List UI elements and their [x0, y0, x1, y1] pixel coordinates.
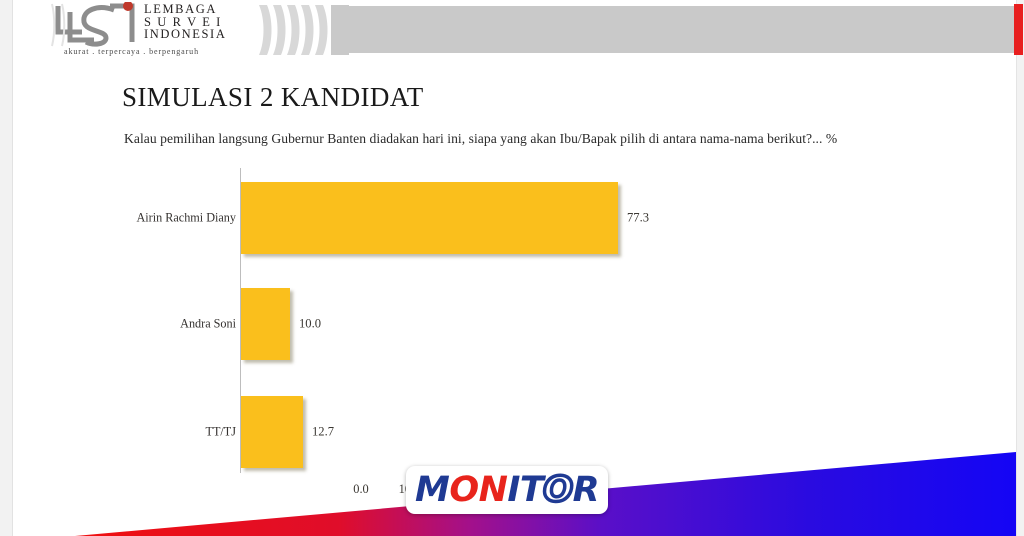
header-red-accent	[1014, 4, 1023, 55]
page-right-margin	[1016, 0, 1024, 536]
bar-category-label: TT/TJ	[206, 425, 236, 440]
monitor-letter: O	[449, 470, 478, 510]
bar-row: TT/TJ12.7	[120, 396, 840, 468]
bar-row: Airin Rachmi Diany77.3	[120, 182, 840, 254]
monitor-letter: R	[573, 470, 599, 510]
header-gray-bar	[344, 6, 1014, 53]
bar-chart: Airin Rachmi Diany77.3Andra Soni10.0TT/T…	[120, 168, 840, 488]
logo-line-1: LEMBAGA	[144, 3, 254, 16]
x-tick-label: 0.0	[353, 482, 369, 497]
monitor-letter: M	[415, 470, 449, 510]
monitor-wordmark: MONITOR	[415, 473, 599, 508]
header-stripes-decoration	[257, 5, 349, 55]
monitor-letter: I	[507, 470, 520, 510]
bar-rect	[241, 288, 290, 360]
bar-value-label: 10.0	[299, 317, 321, 332]
logo-tagline: akurat . terpercaya . berpengaruh	[64, 47, 264, 56]
slide-question: Kalau pemilihan langsung Gubernur Banten…	[124, 131, 837, 147]
slide-title: SIMULASI 2 KANDIDAT	[122, 82, 424, 113]
bar-rect	[241, 182, 618, 254]
page-left-margin	[0, 0, 13, 536]
logo-line-3: INDONESIA	[144, 28, 254, 41]
lsi-logo-text: LEMBAGA S U R V E I INDONESIA	[144, 3, 254, 41]
bar-row: Andra Soni10.0	[120, 288, 840, 360]
bar-category-label: Andra Soni	[180, 317, 236, 332]
slide-header: LEMBAGA S U R V E I INDONESIA akurat . t…	[14, 0, 1016, 62]
monitor-watermark-badge: MONITOR	[406, 466, 608, 514]
lsi-monogram-icon	[48, 2, 143, 48]
bar-value-label: 12.7	[312, 425, 334, 440]
slide-page: LEMBAGA S U R V E I INDONESIA akurat . t…	[0, 0, 1024, 536]
bar-value-label: 77.3	[627, 211, 649, 226]
monitor-letter: O	[543, 470, 572, 510]
lsi-logo: LEMBAGA S U R V E I INDONESIA akurat . t…	[48, 2, 253, 58]
bar-rect	[241, 396, 303, 468]
monitor-letter: T	[520, 470, 543, 510]
monitor-letter: N	[479, 470, 508, 510]
bar-category-label: Airin Rachmi Diany	[136, 211, 236, 226]
